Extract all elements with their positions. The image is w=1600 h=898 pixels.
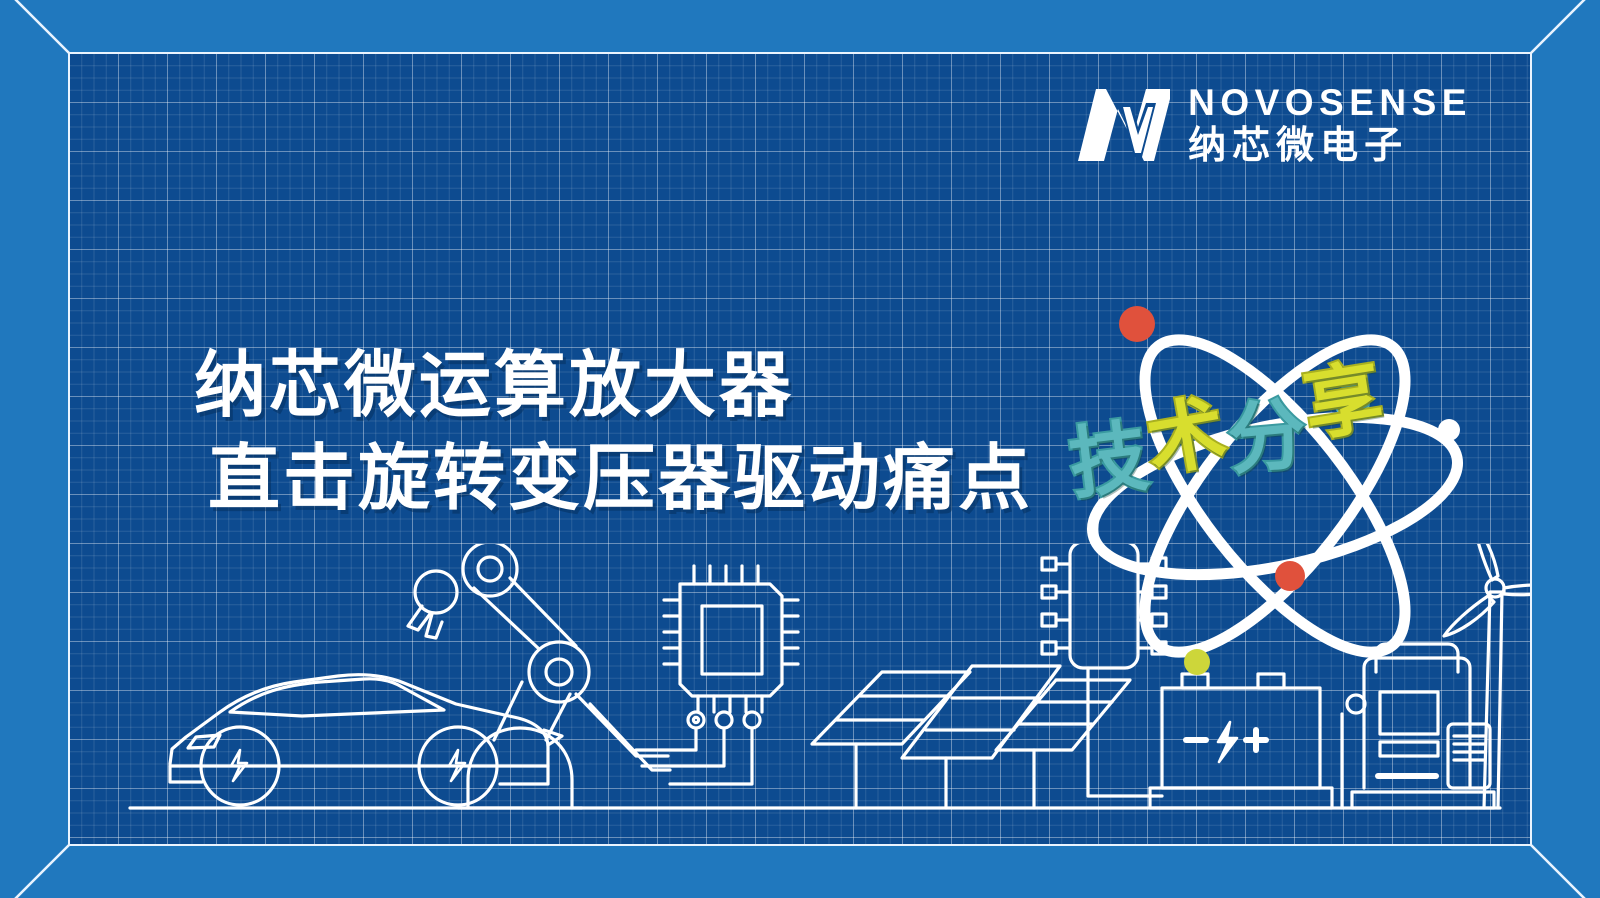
corner-line-top-right <box>1530 0 1600 54</box>
cabinet-buttons <box>1380 742 1438 756</box>
chip-pad-1 <box>688 712 704 728</box>
badge-char-3: 分 <box>1225 395 1312 480</box>
chip-pad-3 <box>744 712 760 728</box>
electron-dot-red-top <box>1119 306 1155 342</box>
solar-panel-2 <box>902 666 1060 808</box>
turbine-blade-2 <box>1504 585 1532 595</box>
logo-text-block: NOVOSENSE 纳芯微电子 <box>1188 84 1472 164</box>
logo-english: NOVOSENSE <box>1188 84 1472 121</box>
badge-char-1: 技 <box>1065 418 1154 505</box>
electric-car-icon <box>170 675 562 805</box>
battery-bolt-symbol <box>1218 722 1237 762</box>
robot-joint-upper <box>463 544 517 596</box>
headline: 纳芯微运算放大器 直击旋转变压器驱动痛点 <box>194 339 1033 525</box>
banner-root: 技术分享 纳芯微运算放大器 直击旋转变压器驱动痛点 NOVOSENSE 纳芯微电… <box>0 0 1600 898</box>
novosense-n-mark-icon <box>1076 85 1172 163</box>
robot-arm-icon <box>408 544 670 808</box>
corner-line-top-left <box>0 0 70 54</box>
electron-dot-lime-bottom <box>1184 649 1210 675</box>
car-bolt-front <box>231 750 247 781</box>
chip-pad-2 <box>716 712 732 728</box>
logo-chinese: 纳芯微电子 <box>1188 126 1472 164</box>
blueprint-panel: 技术分享 纳芯微运算放大器 直击旋转变压器驱动痛点 NOVOSENSE 纳芯微电… <box>68 52 1532 846</box>
car-window <box>230 679 444 716</box>
robot-joint-lower <box>529 642 589 702</box>
electron-dot-red-center <box>1275 561 1305 591</box>
headline-line-1: 纳芯微运算放大器 <box>194 339 1033 432</box>
badge-char-2: 术 <box>1141 392 1233 483</box>
corner-line-bottom-right <box>1530 844 1600 898</box>
electron-dot-white-right <box>1438 419 1460 441</box>
corner-line-bottom-left <box>0 844 70 898</box>
qfp-chip-icon <box>636 566 798 784</box>
headline-line-2: 直击旋转变压器驱动痛点 <box>208 432 1033 525</box>
car-bolt-rear <box>449 750 465 781</box>
badge-char-4: 享 <box>1299 357 1390 447</box>
novosense-logo: NOVOSENSE 纳芯微电子 <box>1076 84 1472 164</box>
